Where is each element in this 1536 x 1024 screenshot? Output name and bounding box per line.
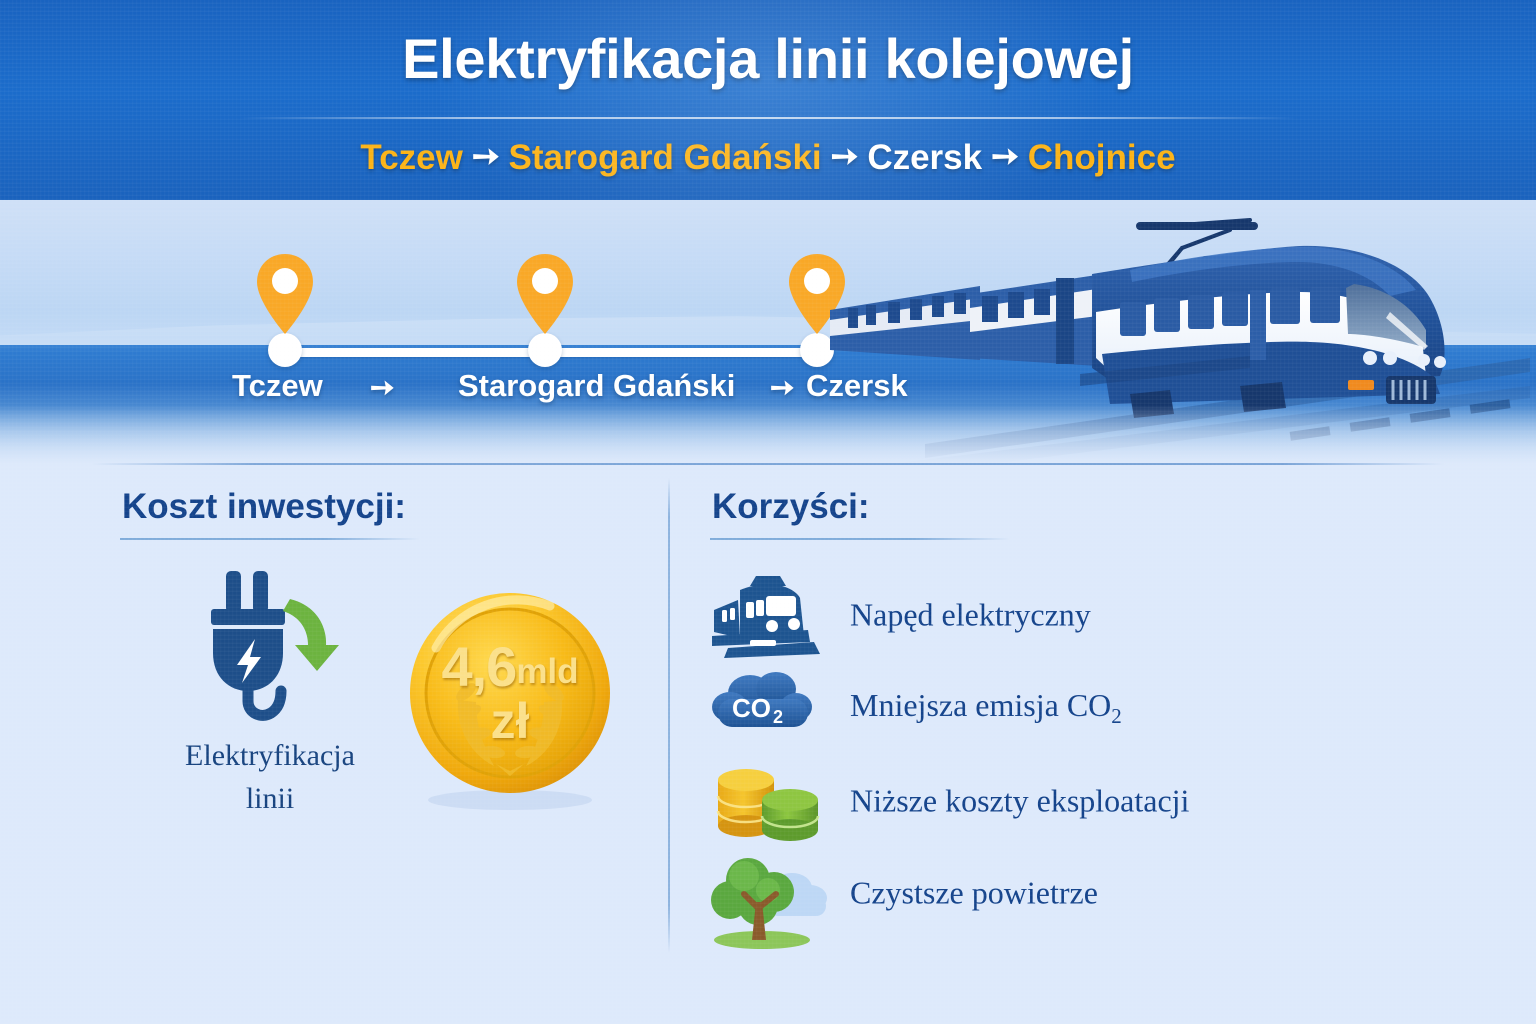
cost-heading-underline [120, 538, 420, 540]
benefit-item-3: Niższe koszty eksploatacji [710, 758, 1410, 844]
svg-text:2: 2 [773, 707, 783, 727]
co2-cloud-icon: CO 2 [710, 665, 830, 751]
route-stop-2: Starogard Gdański [509, 138, 822, 177]
title-divider [240, 117, 1296, 119]
route-arrow-icon-1: ➙ [463, 137, 509, 174]
station-dot-tczew [268, 333, 302, 367]
benefits-heading-underline [710, 538, 1010, 540]
scene-fade [0, 405, 1536, 465]
train-icon [710, 572, 830, 658]
panel-divider-horizontal [92, 463, 1444, 465]
benefit-label-2: Mniejsza emisja CO2 [850, 687, 1122, 729]
route-map-scene: Tczew ➙ Starogard Gdański ➙ Czersk [0, 200, 1536, 465]
map-pin-icon-tczew[interactable] [254, 252, 316, 336]
benefit-item-4: Czystsze powietrze [710, 850, 1410, 936]
station-dot-czersk [800, 333, 834, 367]
infographic-page: Elektryfikacja linii kolejowej Tczew➙Sta… [0, 0, 1536, 1024]
power-plug-icon [193, 561, 343, 721]
benefit-label-2-sub: 2 [1111, 704, 1122, 728]
benefit-label-2-text: Mniejsza emisja CO [850, 687, 1111, 723]
cost-icon-label: Elektryfikacja linii [120, 735, 420, 820]
cost-icon-label-line2: linii [120, 778, 420, 821]
route-arrow-icon-2: ➙ [822, 137, 868, 174]
page-title: Elektryfikacja linii kolejowej [0, 26, 1536, 91]
benefit-label-1: Napęd elektryczny [850, 597, 1091, 634]
panel-divider-vertical [668, 478, 670, 953]
map-arrow-icon-1: ➙ [370, 370, 394, 405]
map-label-tczew: Tczew [232, 368, 323, 404]
gold-coin-icon [400, 588, 620, 810]
route-stop-4: Chojnice [1028, 138, 1176, 177]
route-stop-1: Tczew [360, 138, 462, 177]
svg-text:CO: CO [732, 693, 771, 723]
station-dot-starogard [528, 333, 562, 367]
benefit-item-1: Napęd elektryczny [710, 572, 1410, 658]
tree-icon [710, 850, 830, 936]
benefits-section-heading: Korzyści: [712, 487, 870, 527]
map-pin-icon-starogard[interactable] [514, 252, 576, 336]
route-arrow-icon-3: ➙ [982, 137, 1028, 174]
cost-icon-label-line1: Elektryfikacja [120, 735, 420, 778]
route-subtitle: Tczew➙Starogard Gdański➙Czersk➙Chojnice [0, 138, 1536, 178]
benefit-label-4: Czystsze powietrze [850, 875, 1098, 912]
coins-stack-icon [710, 758, 830, 844]
benefit-label-3: Niższe koszty eksploatacji [850, 783, 1189, 820]
map-label-starogard: Starogard Gdański [458, 368, 735, 404]
header-banner: Elektryfikacja linii kolejowej Tczew➙Sta… [0, 0, 1536, 200]
map-arrow-icon-2: ➙ [770, 370, 794, 405]
route-stop-3: Czersk [867, 138, 982, 177]
benefit-item-2: CO 2 Mniejsza emisja CO2 [710, 665, 1410, 751]
cost-section-heading: Koszt inwestycji: [122, 487, 406, 527]
